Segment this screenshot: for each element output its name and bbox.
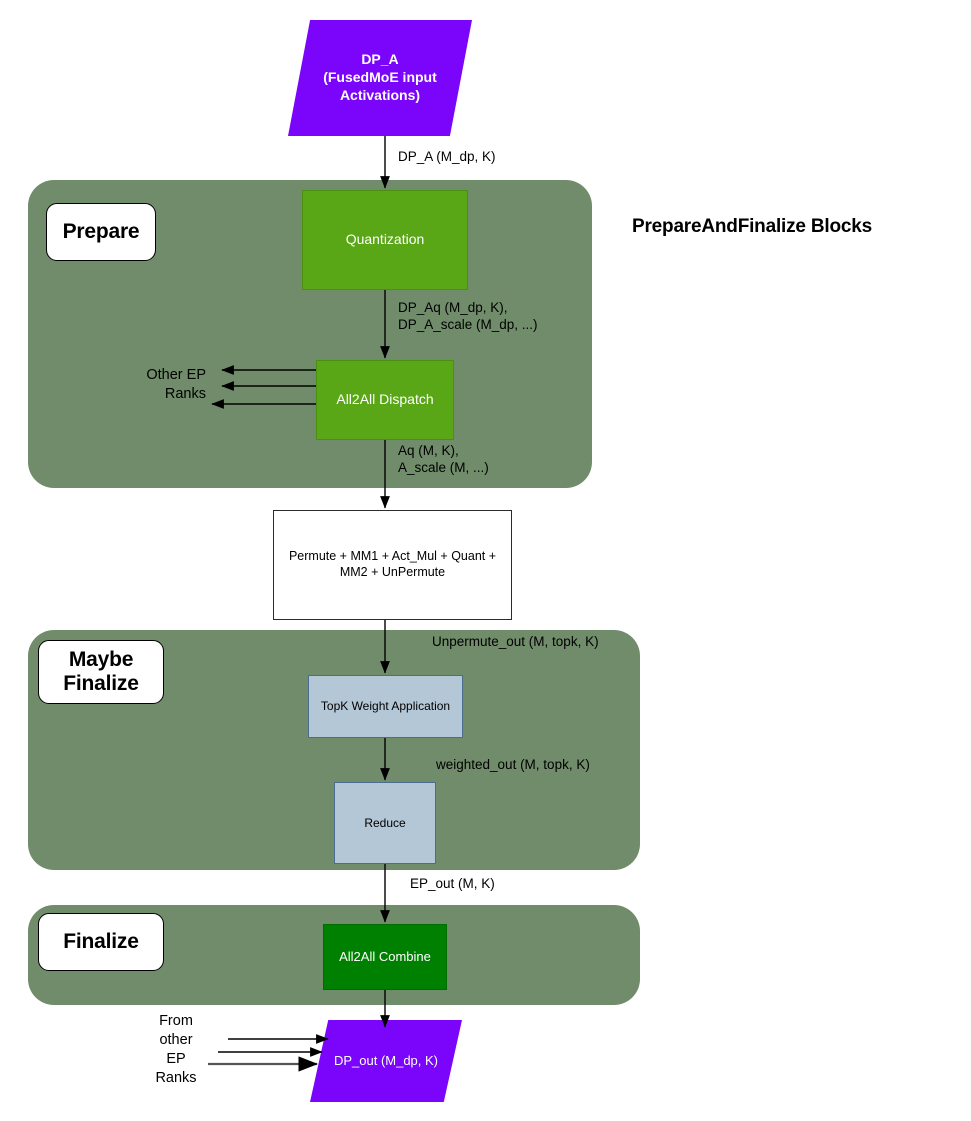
side-label-from-other-ep-ranks: From other EP Ranks (130, 1012, 222, 1089)
node-dp-a-input-label: DP_A (FusedMoE input Activations) (288, 51, 472, 105)
edge-label-aq: Aq (M, K), A_scale (M, ...) (398, 443, 489, 477)
edge-label-dp-a: DP_A (M_dp, K) (398, 149, 496, 166)
group-label-finalize-text: Finalize (63, 930, 138, 954)
node-permute-block-label: Permute + MM1 + Act_Mul + Quant + MM2 + … (289, 549, 496, 580)
node-dp-out-label: DP_out (M_dp, K) (310, 1053, 462, 1070)
diagram-title: PrepareAndFinalize Blocks (632, 216, 872, 238)
node-reduce: Reduce (334, 782, 436, 864)
node-quantization: Quantization (302, 190, 468, 290)
edge-label-weighted-out: weighted_out (M, topk, K) (436, 757, 590, 774)
node-all2all-dispatch-label: All2All Dispatch (336, 391, 433, 409)
group-label-prepare-text: Prepare (63, 220, 140, 244)
group-label-maybe-finalize-text: Maybe Finalize (63, 648, 138, 695)
side-label-other-ep-ranks: Other EP Ranks (56, 366, 206, 404)
edge-label-dp-aq: DP_Aq (M_dp, K), DP_A_scale (M_dp, ...) (398, 300, 538, 334)
node-topk-weight-application: TopK Weight Application (308, 675, 463, 738)
node-all2all-dispatch: All2All Dispatch (316, 360, 454, 440)
node-quantization-label: Quantization (346, 231, 425, 249)
node-dp-a-input: DP_A (FusedMoE input Activations) (288, 20, 472, 136)
edge-label-unpermute-out: Unpermute_out (M, topk, K) (432, 634, 599, 651)
group-label-finalize: Finalize (38, 913, 164, 971)
node-dp-out: DP_out (M_dp, K) (310, 1020, 462, 1102)
node-all2all-combine: All2All Combine (323, 924, 447, 990)
node-all2all-combine-label: All2All Combine (339, 949, 431, 965)
diagram-canvas: Prepare Maybe Finalize Finalize PrepareA… (0, 0, 971, 1121)
group-label-prepare: Prepare (46, 203, 156, 261)
edge-label-ep-out: EP_out (M, K) (410, 876, 495, 893)
node-topk-weight-application-label: TopK Weight Application (321, 699, 450, 714)
group-label-maybe-finalize: Maybe Finalize (38, 640, 164, 704)
node-reduce-label: Reduce (364, 816, 405, 831)
node-permute-block: Permute + MM1 + Act_Mul + Quant + MM2 + … (273, 510, 512, 620)
